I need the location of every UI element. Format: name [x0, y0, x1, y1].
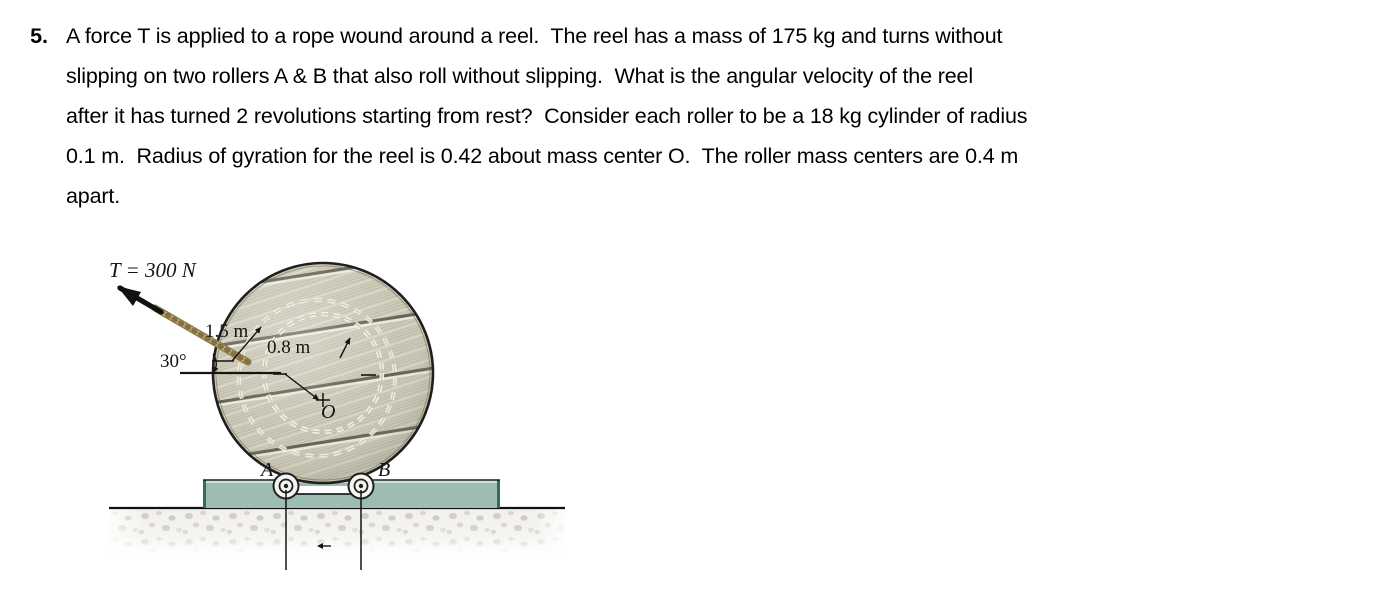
problem-statement: 5. A force T is applied to a rope wound …	[0, 0, 1378, 216]
outer-radius-label: 1.5 m	[205, 321, 249, 342]
problem-line: 0.1 m. Radius of gyration for the reel i…	[66, 136, 1358, 176]
reel-diagram: T = 300 N 30° 1.5 m 0.8 m O A B	[95, 250, 595, 596]
problem-line: after it has turned 2 revolutions starti…	[66, 96, 1358, 136]
roller-a-label: A	[259, 459, 274, 481]
problem-body: A force T is applied to a rope wound aro…	[50, 16, 1358, 216]
roller-b-label: B	[378, 459, 390, 481]
ground	[101, 508, 573, 554]
problem-line: A force T is applied to a rope wound aro…	[66, 16, 1358, 56]
force-label: T = 300 N	[109, 258, 197, 282]
center-label: O	[321, 401, 335, 423]
problem-line: slipping on two rollers A & B that also …	[66, 56, 1358, 96]
problem-number: 5.	[20, 16, 50, 56]
inner-radius-label: 0.8 m	[267, 337, 311, 358]
problem-line: apart.	[66, 176, 1358, 216]
angle-label: 30°	[160, 351, 187, 372]
